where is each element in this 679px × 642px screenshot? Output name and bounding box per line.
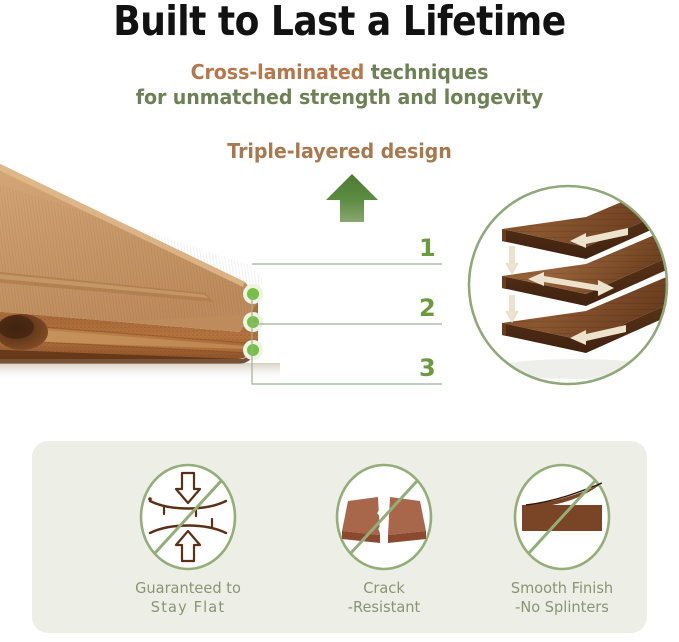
no-warp-icon — [138, 461, 238, 573]
feature-label-line2: Stay Flat — [94, 598, 282, 617]
layer-number-1: 1 — [419, 234, 436, 262]
layer-number-3: 3 — [419, 354, 436, 382]
feature-label-stay-flat: Guaranteed to Stay Flat — [94, 579, 282, 617]
up-arrow-icon — [324, 172, 380, 224]
feature-label-smooth-finish: Smooth Finish -No Splinters — [468, 579, 656, 617]
feature-label-line2: -Resistant — [290, 598, 478, 617]
subheadline-highlight: Cross-laminated — [191, 60, 365, 84]
feature-panel: Guaranteed to Stay Flat Crack -Re — [32, 441, 647, 633]
subheadline-line-2: for unmatched strength and longevity — [24, 85, 655, 110]
no-splinter-icon — [512, 461, 612, 573]
feature-label-line1: Guaranteed to — [135, 579, 241, 597]
three-layer-cross-grain-diagram — [466, 183, 671, 388]
no-crack-icon — [334, 461, 434, 573]
feature-label-line2: -No Splinters — [468, 598, 656, 617]
page-title: Built to Last a Lifetime — [41, 0, 639, 44]
subheadline-line-1: Cross-laminated techniques — [24, 60, 655, 85]
feature-item-crack-resistant: Crack -Resistant — [284, 461, 484, 617]
feature-label-line1: Smooth Finish — [511, 579, 613, 597]
feature-label-crack-resistant: Crack -Resistant — [290, 579, 478, 617]
feature-item-smooth-finish: Smooth Finish -No Splinters — [462, 461, 662, 617]
subheadline-rest: techniques — [364, 60, 488, 84]
infographic-root: Built to Last a Lifetime Cross-laminated… — [0, 0, 679, 642]
feature-item-stay-flat: Guaranteed to Stay Flat — [88, 461, 288, 617]
feature-label-line1: Crack — [363, 579, 405, 597]
layer-number-2: 2 — [419, 294, 436, 322]
